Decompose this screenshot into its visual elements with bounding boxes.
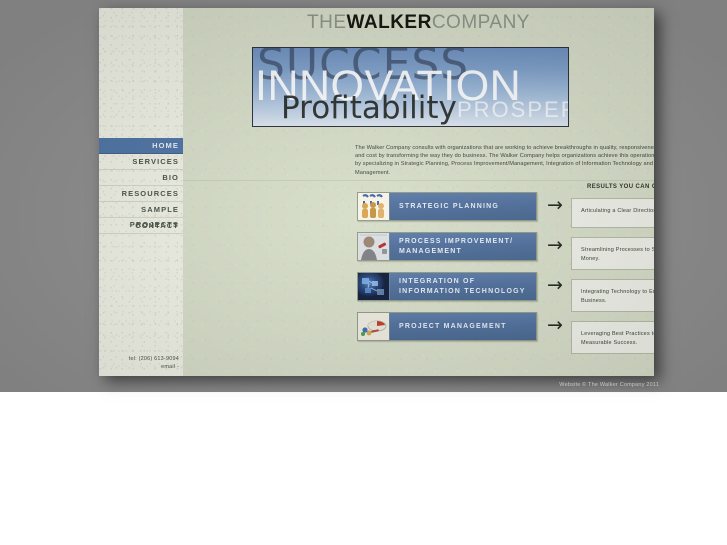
- site-header: THEWALKERCOMPANY: [183, 8, 654, 38]
- result-box: Integrating Technology to Enable Your Bu…: [571, 279, 654, 312]
- arrow-right-icon: →: [547, 236, 567, 256]
- service-button[interactable]: STRATEGIC PLANNING: [357, 192, 537, 221]
- hero-banner: SUCCESS INNOVATION PROSPERITY Profitabil…: [252, 47, 569, 127]
- browser-viewport: THEWALKERCOMPANY SUCCESS INNOVATION PROS…: [0, 0, 727, 392]
- site-footer: Website © The Walker Company 2011: [0, 378, 727, 392]
- arrow-right-icon: →: [547, 196, 567, 216]
- nav-item-sample-projects[interactable]: SAMPLE PROJECTS: [99, 202, 183, 218]
- service-button[interactable]: INTEGRATION OF INFORMATION TECHNOLOGY: [357, 272, 537, 301]
- arrow-right-icon: →: [547, 276, 567, 296]
- nav-item-resources[interactable]: RESOURCES: [99, 186, 183, 202]
- page-title: THEWALKERCOMPANY: [183, 12, 654, 34]
- arrow-right-icon: →: [547, 316, 567, 336]
- nav-item-bio[interactable]: BIO: [99, 170, 183, 186]
- content-divider: [183, 180, 654, 181]
- title-word-company: COMPANY: [432, 12, 530, 33]
- contact-email-link[interactable]: email -: [99, 363, 179, 371]
- results-column: RESULTS YOU CAN COUNT ON Articulating a …: [571, 184, 654, 363]
- footer-copyright: Website © The Walker Company 2011: [559, 382, 659, 388]
- people-icon: [358, 193, 390, 220]
- sidebar-contact-info: tel: (206) 613-9094 email -: [99, 355, 183, 371]
- pie-chart-icon: [358, 313, 390, 340]
- contact-telephone: tel: (206) 613-9094: [99, 355, 179, 363]
- intro-paragraph: The Walker Company consults with organiz…: [355, 144, 654, 178]
- nav-item-services[interactable]: SERVICES: [99, 154, 183, 170]
- service-button-label: PROCESS IMPROVEMENT/ MANAGEMENT: [390, 233, 536, 260]
- title-word-walker: WALKER: [347, 12, 432, 33]
- service-button-label: INTEGRATION OF INFORMATION TECHNOLOGY: [390, 273, 536, 300]
- service-button[interactable]: PROCESS IMPROVEMENT/ MANAGEMENT: [357, 232, 537, 261]
- network-technology-icon: [358, 273, 390, 300]
- result-box: Articulating a Clear Direction.: [571, 198, 654, 228]
- nav-item-contact[interactable]: CONTACT: [99, 218, 183, 234]
- result-box: Leveraging Best Practices to Create Meas…: [571, 321, 654, 354]
- results-heading: RESULTS YOU CAN COUNT ON: [571, 184, 654, 190]
- service-row[interactable]: STRATEGIC PLANNING→: [357, 192, 537, 221]
- service-row[interactable]: PROCESS IMPROVEMENT/ MANAGEMENT→: [357, 232, 537, 261]
- services-list: STRATEGIC PLANNING→PROCESS IMPROVEMENT/ …: [357, 192, 537, 352]
- title-word-the: THE: [307, 12, 347, 33]
- page-card: THEWALKERCOMPANY SUCCESS INNOVATION PROS…: [99, 8, 654, 376]
- main-navigation[interactable]: HOMESERVICESBIORESOURCESSAMPLE PROJECTSC…: [99, 138, 183, 234]
- banner-word-prosperity: PROSPERITY: [457, 97, 569, 123]
- service-button[interactable]: PROJECT MANAGEMENT: [357, 312, 537, 341]
- service-button-label: PROJECT MANAGEMENT: [390, 313, 536, 340]
- nav-item-home[interactable]: HOME: [99, 138, 183, 154]
- person-writing-icon: [358, 233, 390, 260]
- service-button-label: STRATEGIC PLANNING: [390, 193, 536, 220]
- main-content: The Walker Company consults with organiz…: [183, 132, 654, 376]
- service-row[interactable]: PROJECT MANAGEMENT→: [357, 312, 537, 341]
- result-box: Streamlining Processes to Save Time & Mo…: [571, 237, 654, 270]
- service-row[interactable]: INTEGRATION OF INFORMATION TECHNOLOGY→: [357, 272, 537, 301]
- banner-word-profitability: Profitability: [281, 90, 457, 126]
